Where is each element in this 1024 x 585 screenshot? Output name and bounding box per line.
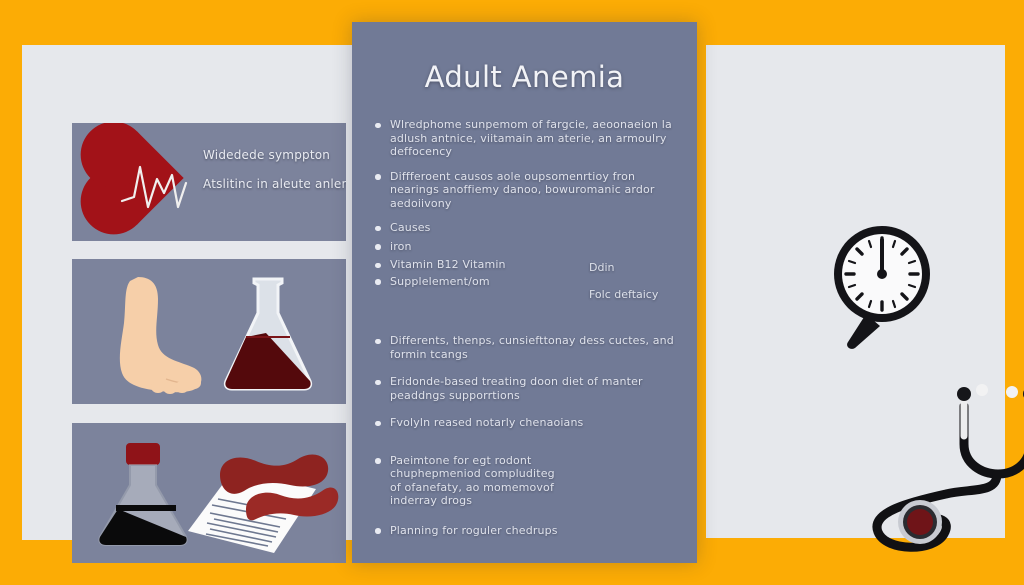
float-label-folc: Folc deftaicy — [589, 288, 658, 301]
panel-caption: Atslitinc in aleute anlenemy — [203, 177, 346, 191]
list-item: Causes — [372, 221, 678, 235]
foot-flask-panel — [72, 259, 346, 404]
list-item: Paeimtone for egt rodont chuphepmeniod c… — [372, 454, 567, 508]
list-item: iron — [372, 240, 678, 254]
heart-ecg-panel: Widedede symppton Atslitinc in aleute an… — [72, 123, 346, 241]
list-item: Diffferoent causos aole oupsomenrtioy fr… — [372, 170, 678, 211]
list-item: Differents, thenps, cunsiefttonay dess c… — [372, 334, 678, 361]
panel-caption: Widedede symppton — [203, 148, 330, 162]
foot-icon — [102, 275, 207, 395]
list-item: Wlredphome sunpemom of fargcie, aeoonaei… — [372, 118, 678, 159]
erlenmeyer-flask-icon — [218, 275, 318, 393]
page-title: Adult Anemia — [352, 60, 697, 94]
left-card: Widedede symppton Atslitinc in aleute an… — [22, 45, 356, 540]
flask-document-panel — [72, 423, 346, 563]
bullet-list-top: Wlredphome sunpemom of fargcie, aeoonaei… — [372, 118, 678, 291]
float-label-ddin: Ddin — [589, 261, 614, 274]
list-item: Supplelement/om — [372, 275, 678, 289]
poster-canvas: Widedede symppton Atslitinc in aleute an… — [0, 0, 1024, 585]
clock-magnifier-icon — [826, 222, 938, 352]
list-item: Fvolyln reased notarly chenaoians — [372, 416, 678, 430]
stethoscope-icon — [860, 382, 1024, 562]
list-item: Vitamin B12 Vitamin — [372, 258, 678, 272]
bullet-list-bottom: Differents, thenps, cunsiefttonay dess c… — [372, 334, 678, 548]
list-item: Eridonde-based treating doon diet of man… — [372, 375, 678, 402]
center-poster: Adult Anemia Wlredphome sunpemom of farg… — [352, 22, 697, 563]
kidney-icon — [212, 445, 342, 525]
list-item: Planning for roguler chedrups — [372, 524, 678, 538]
ecg-line-icon — [116, 149, 202, 217]
